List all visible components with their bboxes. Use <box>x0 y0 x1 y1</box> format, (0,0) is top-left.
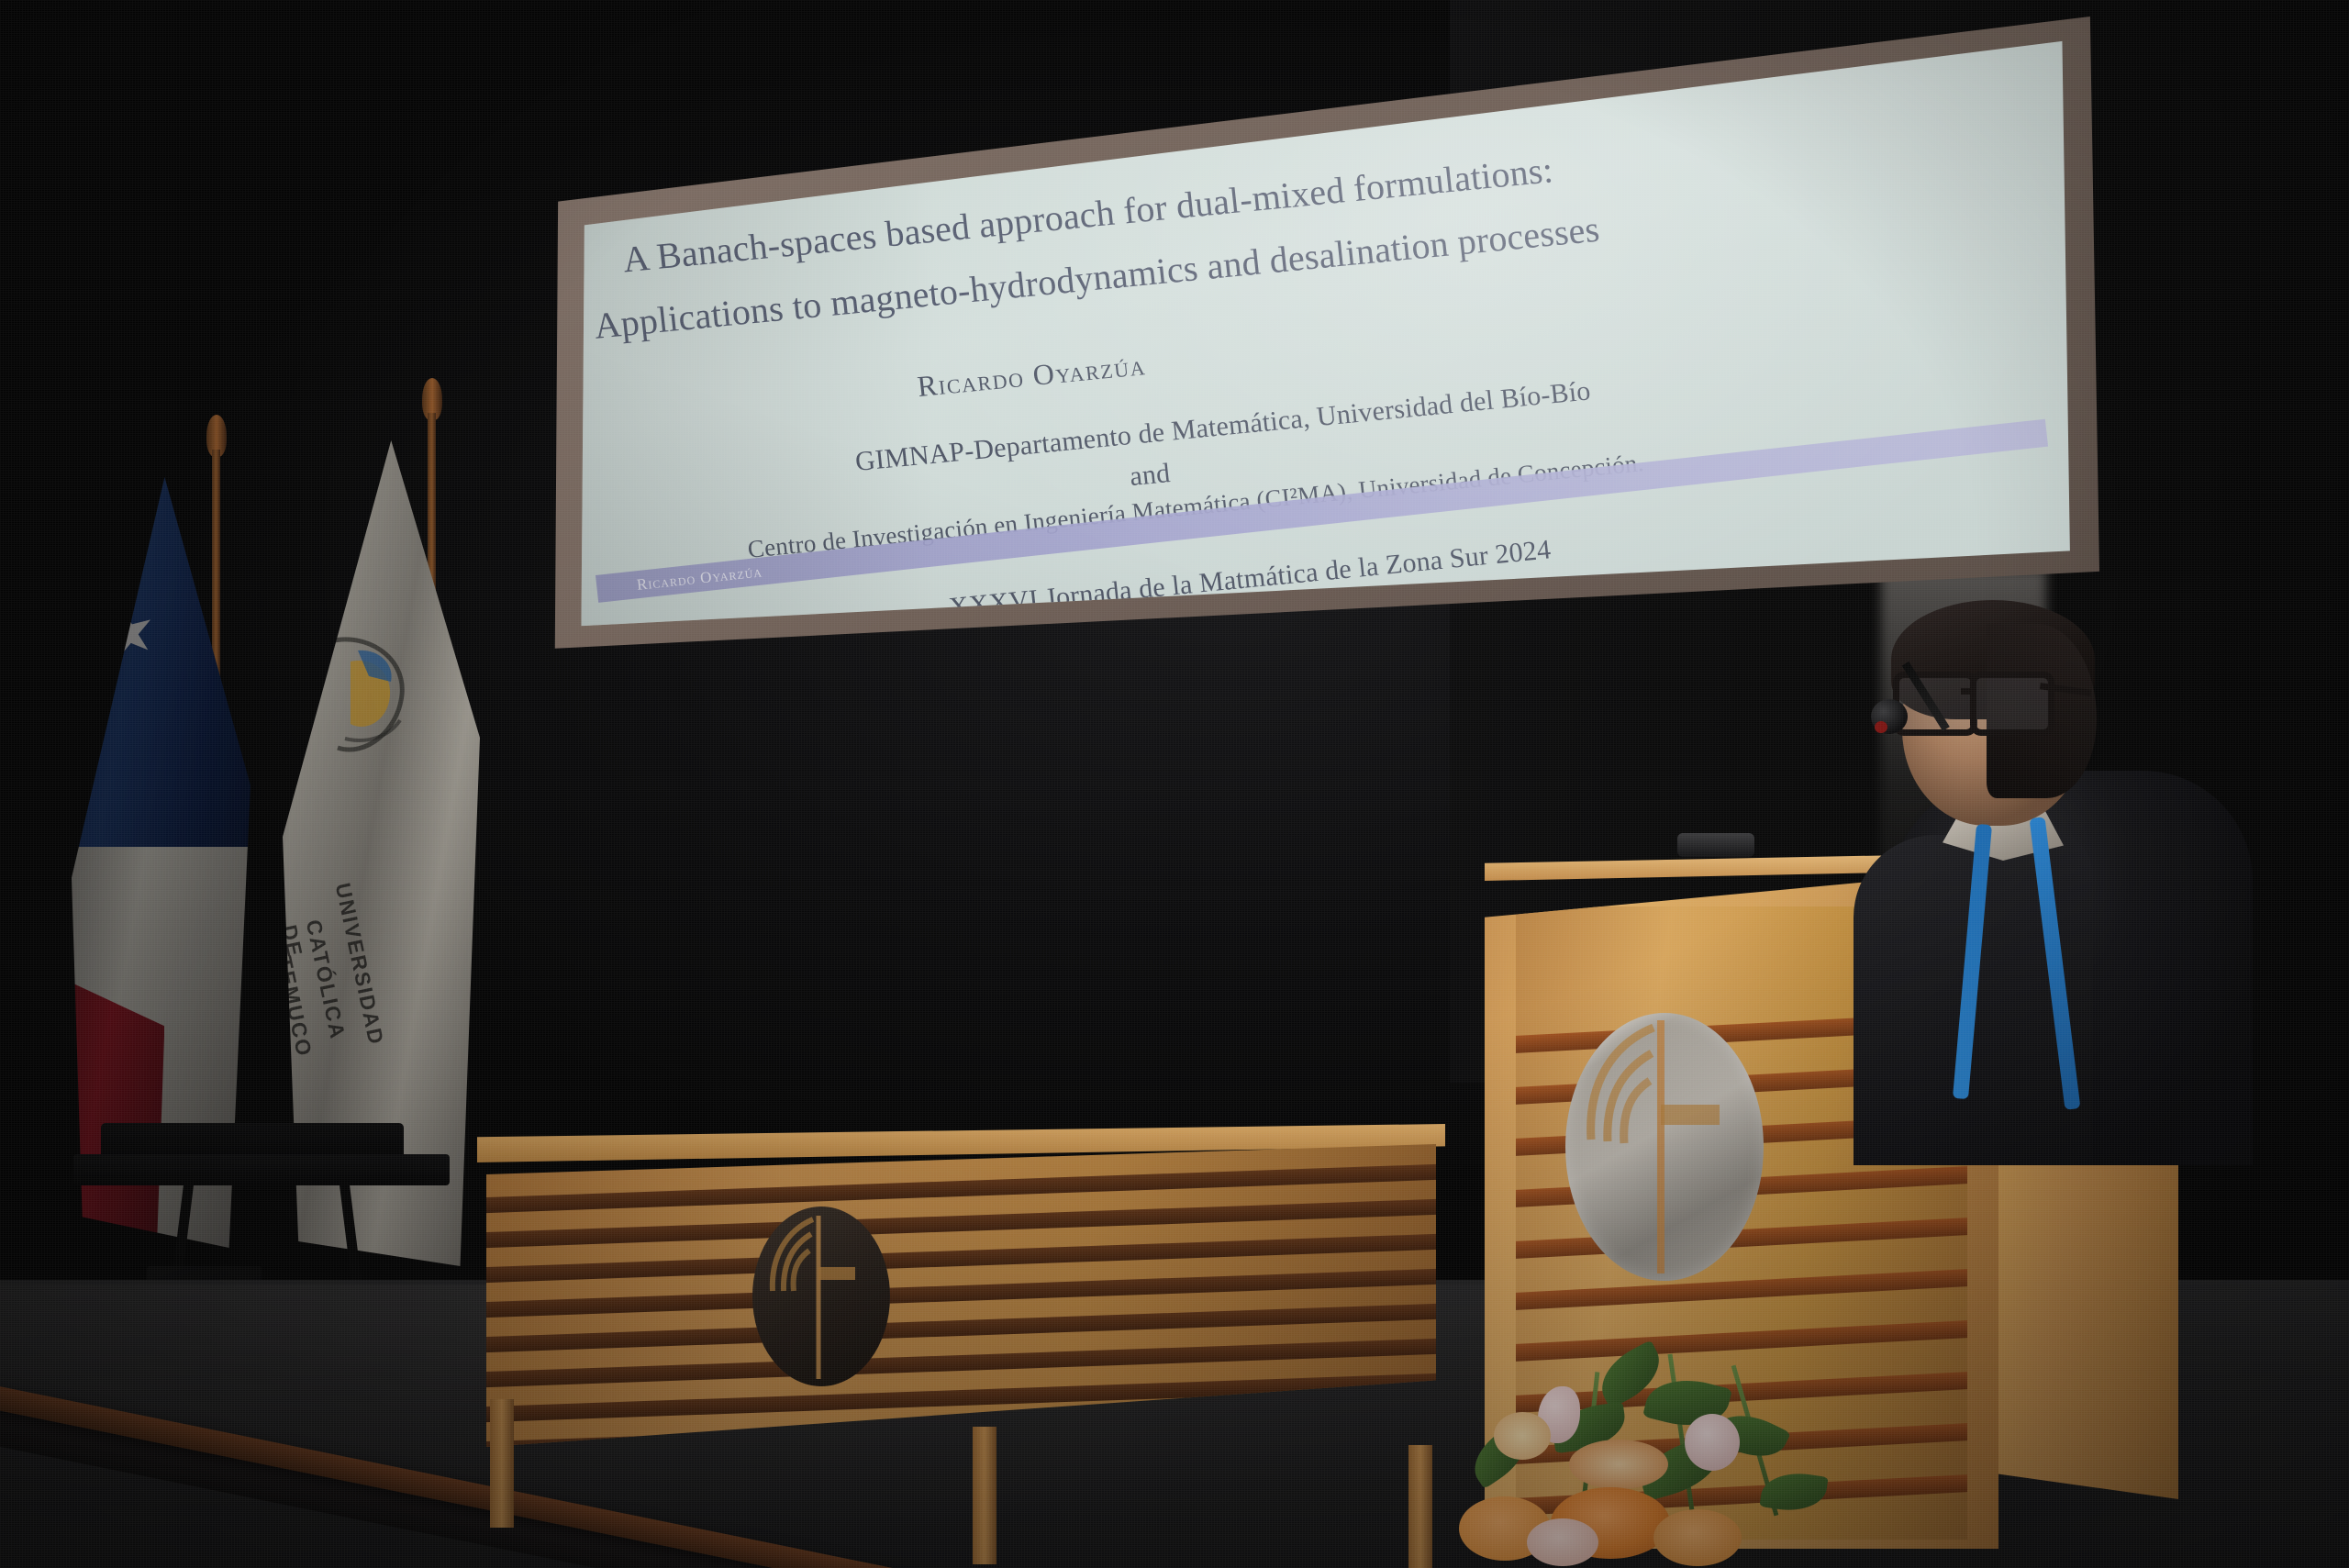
presenter <box>1876 587 2262 1156</box>
glasses-lens-right <box>1970 672 2054 736</box>
alstroemeria-orange <box>1653 1509 1742 1566</box>
rose-bloom <box>1685 1414 1740 1471</box>
gerbera-cream <box>1494 1412 1551 1460</box>
glasses-bridge <box>1961 688 1976 695</box>
uc-temuco-emblem-podium <box>1565 1013 1764 1281</box>
slatted-wood-table <box>477 1124 1445 1518</box>
emblem-cutouts <box>752 1207 890 1386</box>
table-front-panel <box>486 1144 1436 1447</box>
floral-arrangement <box>1450 1335 1844 1568</box>
table-leg-center <box>973 1427 996 1564</box>
slide-author: Ricardo Oyarzúa <box>916 348 1148 404</box>
keyboard-keybed <box>73 1154 450 1185</box>
slide-affiliation-and: and <box>1129 458 1172 493</box>
microphone-windscreen-tip <box>1875 721 1887 733</box>
gerbera-peach <box>1569 1440 1668 1489</box>
photo-canvas: A Banach-spaces based approach for dual-… <box>0 0 2349 1568</box>
uc-temuco-emblem-table <box>752 1207 890 1386</box>
gladiolus-blush <box>1527 1518 1598 1566</box>
emblem-cutouts-podium <box>1565 1013 1764 1281</box>
table-leg-left <box>490 1399 514 1528</box>
podium-lamp-head <box>1677 833 1754 857</box>
foliage-leaf <box>1759 1468 1828 1515</box>
table-leg-right <box>1408 1445 1432 1568</box>
